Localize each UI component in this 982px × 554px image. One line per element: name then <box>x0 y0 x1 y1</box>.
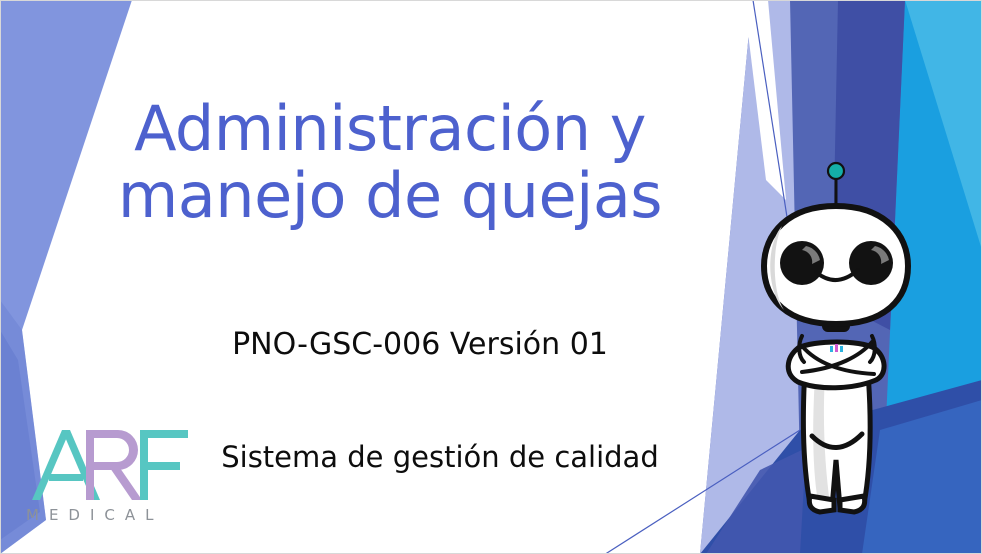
mascot-antenna-ball <box>828 163 844 179</box>
mascot-foot-left <box>809 496 834 512</box>
mascot-foot-right <box>840 496 865 512</box>
slide-title: Administración y manejo de quejas <box>40 96 740 230</box>
arf-medical-logo: MEDICAL <box>22 424 202 534</box>
arf-logo-wordmark: MEDICAL <box>26 506 164 524</box>
logo-letter-a-left <box>32 430 70 500</box>
logo-letter-f-mid-bar <box>140 462 180 470</box>
arf-logo-mark <box>22 424 202 504</box>
presentation-slide: Administración y manejo de quejas PNO-GS… <box>0 0 982 554</box>
mascot-chest-pixel-3 <box>840 346 843 352</box>
logo-letter-f-top-bar <box>140 430 188 438</box>
logo-letter-r-leg <box>110 468 142 500</box>
mascot-eye-left <box>780 241 824 285</box>
logo-letter-r-stem <box>86 430 94 500</box>
logo-letter-a-bar <box>49 474 83 481</box>
mascot-chest-pixel-2 <box>835 344 838 352</box>
slide-subtitle-code: PNO-GSC-006 Versión 01 <box>40 327 800 362</box>
logo-letter-r-bowl <box>94 430 138 470</box>
mascot-eye-right <box>849 241 893 285</box>
robot-mascot <box>740 160 930 554</box>
mascot-chest-pixel-1 <box>830 346 833 352</box>
